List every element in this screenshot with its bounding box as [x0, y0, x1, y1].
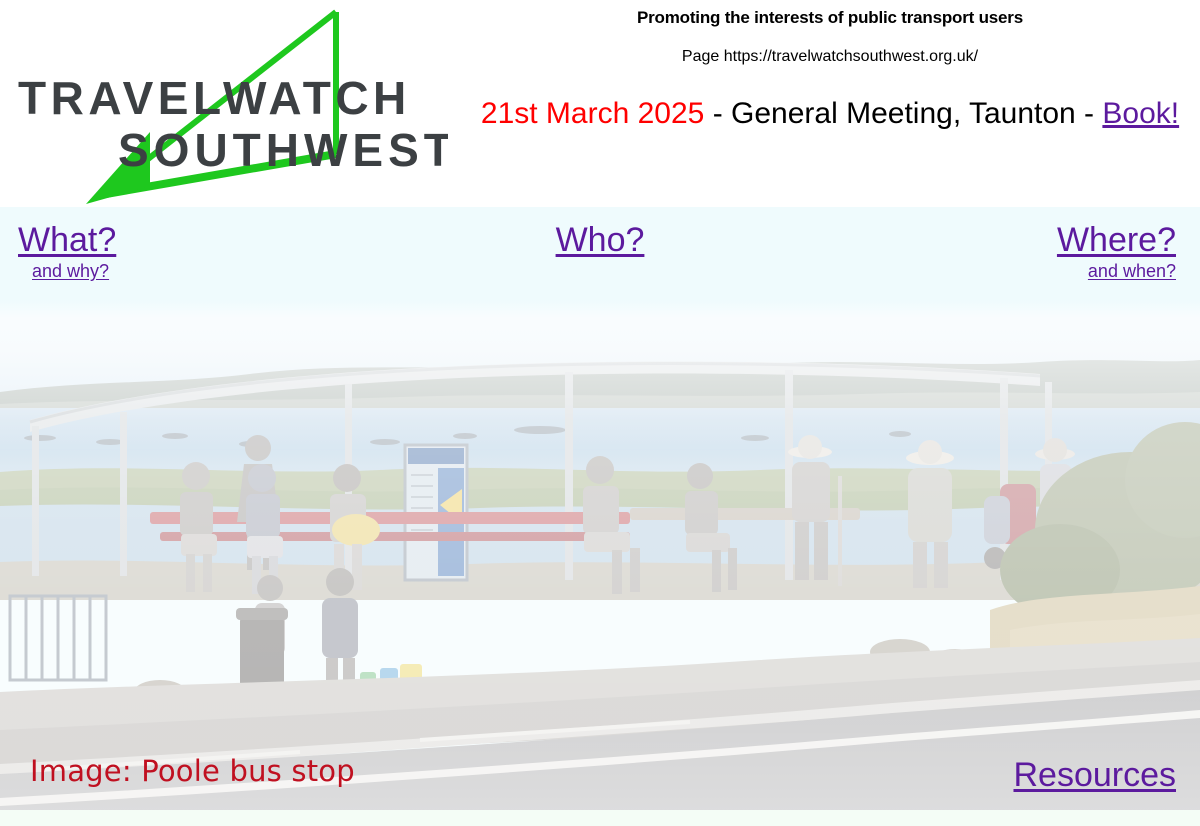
logo-wordmark-line1: TRAVELWATCH	[18, 72, 411, 124]
event-separator-1: -	[704, 97, 731, 130]
hero-photo-section: Image: Poole bus stop Resources	[0, 300, 1200, 810]
photo-caption: Image: Poole bus stop	[30, 754, 355, 788]
logo-wordmark-line2: SOUTHWEST	[118, 124, 448, 176]
nav-group-who: Who?	[0, 223, 1200, 259]
site-header: TRAVELWATCH SOUTHWEST Promoting the inte…	[0, 0, 1200, 207]
header-text-block: Promoting the interests of public transp…	[460, 0, 1200, 207]
site-tagline: Promoting the interests of public transp…	[460, 0, 1200, 29]
poole-bus-stop-photo	[0, 300, 1200, 810]
event-separator-2: -	[1076, 97, 1103, 130]
nav-sublink-and-why[interactable]: and why?	[18, 262, 116, 282]
nav-link-who[interactable]: Who?	[556, 223, 645, 259]
event-book-link[interactable]: Book!	[1102, 97, 1179, 130]
travelwatch-southwest-logo[interactable]: TRAVELWATCH SOUTHWEST	[8, 4, 448, 204]
page-root: TRAVELWATCH SOUTHWEST Promoting the inte…	[0, 0, 1200, 826]
event-description: General Meeting, Taunton	[731, 97, 1076, 130]
nav-link-resources[interactable]: Resources	[1013, 758, 1176, 794]
event-date: 21st March 2025	[481, 97, 704, 130]
footer-strip	[0, 810, 1200, 826]
nav-link-where[interactable]: Where?	[1057, 223, 1176, 259]
nav-group-where: Where? and when?	[1057, 223, 1176, 281]
page-url-text: Page https://travelwatchsouthwest.org.uk…	[460, 29, 1200, 68]
event-announcement: 21st March 2025 - General Meeting, Taunt…	[460, 68, 1200, 133]
railing	[10, 596, 106, 680]
nav-sublink-and-when[interactable]: and when?	[1057, 262, 1176, 282]
